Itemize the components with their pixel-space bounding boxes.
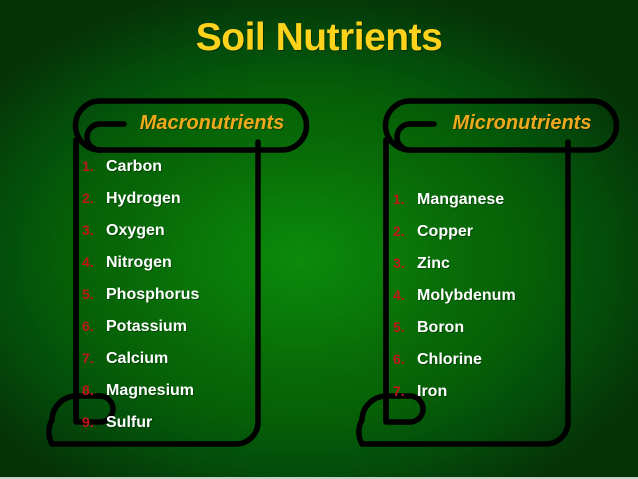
list-item-label: Iron bbox=[417, 383, 447, 401]
list-item-label: Sulfur bbox=[106, 414, 152, 432]
list-item-number: 5. bbox=[82, 286, 106, 302]
list-item-label: Oxygen bbox=[106, 222, 165, 240]
micronutrients-heading: Micronutrients bbox=[434, 112, 610, 135]
list-item-label: Chlorine bbox=[417, 351, 482, 369]
list-item-label: Copper bbox=[417, 223, 473, 241]
list-item: 7. Iron bbox=[393, 383, 573, 415]
list-item-number: 9. bbox=[82, 414, 106, 430]
list-item-label: Zinc bbox=[417, 255, 450, 273]
list-item-number: 6. bbox=[82, 318, 106, 334]
list-item: 3. Oxygen bbox=[82, 222, 262, 254]
list-item-label: Boron bbox=[417, 319, 464, 337]
slide-canvas: Soil Nutrients bbox=[0, 0, 638, 479]
list-item: 2. Hydrogen bbox=[82, 190, 262, 222]
list-item-number: 1. bbox=[82, 158, 106, 174]
list-item-number: 2. bbox=[393, 223, 417, 239]
list-item-number: 6. bbox=[393, 351, 417, 367]
list-item: 5. Phosphorus bbox=[82, 286, 262, 318]
list-item-label: Hydrogen bbox=[106, 190, 181, 208]
list-item: 2. Copper bbox=[393, 223, 573, 255]
list-item: 6. Potassium bbox=[82, 318, 262, 350]
list-item-label: Nitrogen bbox=[106, 254, 172, 272]
list-item-label: Manganese bbox=[417, 191, 504, 209]
list-item: 1. Carbon bbox=[82, 158, 262, 190]
list-item-label: Molybdenum bbox=[417, 287, 516, 305]
list-item-label: Magnesium bbox=[106, 382, 194, 400]
list-item-number: 7. bbox=[393, 383, 417, 399]
micronutrients-list: 1. Manganese 2. Copper 3. Zinc 4. Molybd… bbox=[393, 191, 573, 415]
list-item: 4. Nitrogen bbox=[82, 254, 262, 286]
list-item: 9. Sulfur bbox=[82, 414, 262, 446]
list-item-number: 1. bbox=[393, 191, 417, 207]
list-item-number: 4. bbox=[393, 287, 417, 303]
list-item-number: 3. bbox=[393, 255, 417, 271]
list-item-number: 7. bbox=[82, 350, 106, 366]
list-item: 1. Manganese bbox=[393, 191, 573, 223]
list-item-label: Potassium bbox=[106, 318, 187, 336]
list-item-number: 8. bbox=[82, 382, 106, 398]
list-item: 3. Zinc bbox=[393, 255, 573, 287]
list-item-number: 5. bbox=[393, 319, 417, 335]
list-item-label: Phosphorus bbox=[106, 286, 199, 304]
list-item-label: Calcium bbox=[106, 350, 168, 368]
list-item-number: 2. bbox=[82, 190, 106, 206]
list-item-label: Carbon bbox=[106, 158, 162, 176]
macronutrients-heading: Macronutrients bbox=[124, 112, 300, 135]
list-item-number: 4. bbox=[82, 254, 106, 270]
list-item: 6. Chlorine bbox=[393, 351, 573, 383]
list-item-number: 3. bbox=[82, 222, 106, 238]
list-item: 5. Boron bbox=[393, 319, 573, 351]
macronutrients-list: 1. Carbon 2. Hydrogen 3. Oxygen 4. Nitro… bbox=[82, 158, 262, 446]
list-item: 4. Molybdenum bbox=[393, 287, 573, 319]
list-item: 7. Calcium bbox=[82, 350, 262, 382]
list-item: 8. Magnesium bbox=[82, 382, 262, 414]
page-title: Soil Nutrients bbox=[0, 17, 638, 60]
